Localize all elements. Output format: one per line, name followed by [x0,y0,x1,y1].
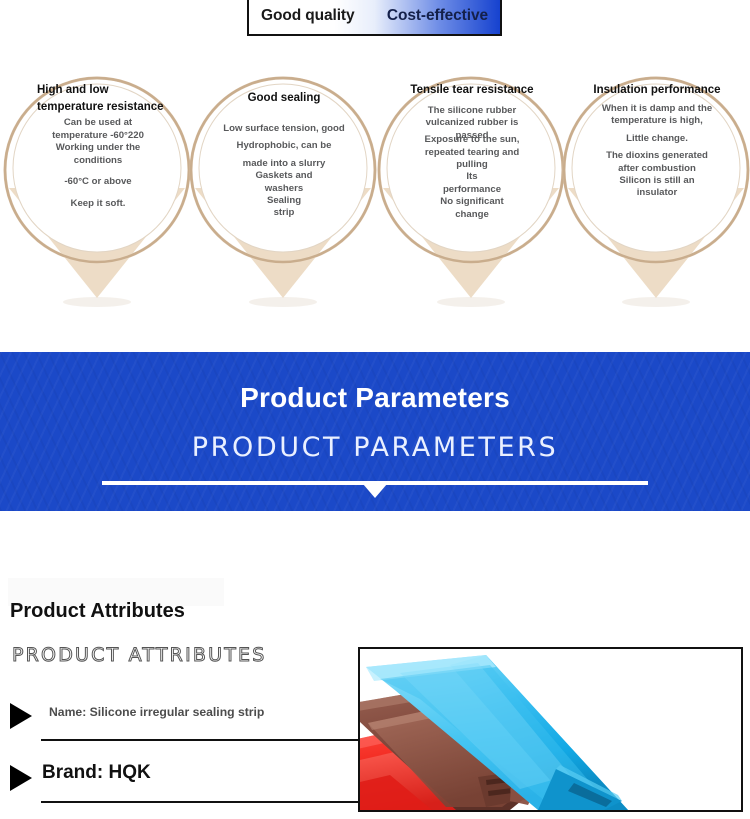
pin-line: after combustion [584,163,730,175]
pin-line: Silicon is still an [584,175,730,187]
quality-badge-box: Good quality Cost-effective [247,0,502,36]
pin-body: When it is damp and the temperature is h… [584,103,730,200]
attribute-underline [41,801,360,803]
attributes-subheading: PRODUCT ATTRIBUTES [12,644,266,666]
feature-pin-insulation-performance: Insulation performance When it is damp a… [562,60,750,310]
pin-line: insulator [584,187,730,199]
attributes-list: Name: Silicone irregular sealing strip B… [0,695,360,819]
pin-line: Gaskets and [211,170,357,182]
pin-line: temperature -60°220 [25,130,171,142]
pin-title: High and low temperature resistance [25,82,171,115]
feature-pin-temperature-resistance: High and low temperature resistance Can … [3,60,191,310]
feature-pin-good-sealing: Good sealing Low surface tension, good H… [189,60,377,310]
pin-line: When it is damp and the [584,103,730,115]
pin-line: Its [399,171,545,183]
attribute-value: Brand: HQK [42,762,151,784]
product-photo [358,647,743,812]
pin-title: Insulation performance [584,82,730,99]
pin-line: strip [211,207,357,219]
pin-line: No significant [399,196,545,208]
pin-line: temperature is high, [584,115,730,127]
pin-line: change [399,209,545,221]
quality-label-good-quality: Good quality [261,7,355,25]
attributes-heading: Product Attributes [10,600,185,623]
attribute-row-brand: Brand: HQK [0,757,360,819]
pin-line: The dioxins generated [584,150,730,162]
pin-title: Good sealing [211,90,357,107]
pin-line: conditions [25,155,171,167]
top-quality-bar: Good quality Cost-effective [0,0,750,44]
attribute-underline [41,739,360,741]
pin-line: Can be used at [25,117,171,129]
quality-label-cost-effective: Cost-effective [387,7,488,25]
pin-line: performance [399,184,545,196]
sealing-strip-illustration-icon [360,649,741,810]
pin-title: Tensile tear resistance [399,82,545,99]
pin-content: Tensile tear resistance The silicone rub… [399,82,545,270]
pin-content: Insulation performance When it is damp a… [584,82,730,270]
pin-line: Keep it soft. [25,198,171,210]
pin-content: High and low temperature resistance Can … [25,82,171,270]
attribute-row-name: Name: Silicone irregular sealing strip [0,695,360,757]
banner-arrow-down-icon [363,484,387,498]
pin-line: pulling [399,159,545,171]
pin-line: Working under the [25,142,171,154]
bullet-triangle-icon [10,765,32,791]
attribute-value: Name: Silicone irregular sealing strip [49,705,264,719]
pin-content: Good sealing Low surface tension, good H… [211,82,357,270]
feature-pins-row: High and low temperature resistance Can … [0,60,750,310]
pin-body: Can be used at temperature -60°220 Worki… [25,117,171,210]
pin-line: The silicone rubber [399,105,545,117]
bullet-triangle-icon [10,703,32,729]
pin-line: Sealing [211,195,357,207]
pin-line: washers [211,183,357,195]
pin-line: Low surface tension, good [211,123,357,135]
pin-line: Hydrophobic, can be [211,140,357,152]
pin-line: repeated tearing and [399,147,545,159]
pin-line: passed [399,130,545,142]
banner-subtitle: PRODUCT PARAMETERS [0,432,750,463]
pin-line: vulcanized rubber is [399,117,545,129]
feature-pin-tensile-tear-resistance: Tensile tear resistance The silicone rub… [377,60,565,310]
pin-line: -60°C or above [25,176,171,188]
banner-title: Product Parameters [0,382,750,414]
pin-line: Little change. [584,133,730,145]
pin-body: The silicone rubber vulcanized rubber is… [399,105,545,222]
pin-line: made into a slurry [211,158,357,170]
pin-body: Low surface tension, good Hydrophobic, c… [211,123,357,220]
